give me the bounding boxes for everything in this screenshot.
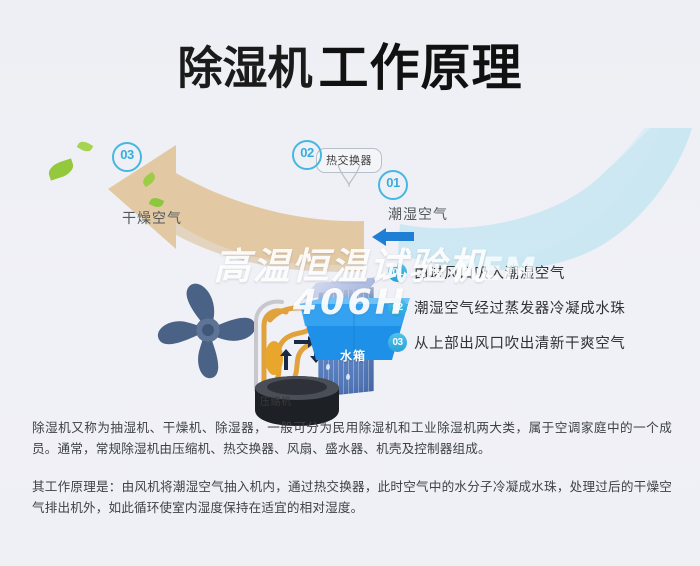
diagram-badge-01: 01 [378,170,408,200]
list-item: 01 由进风口吸入潮湿空气 [388,255,688,290]
list-item: 03 从上部出风口吹出清新干爽空气 [388,325,688,360]
moist-air-label: 潮湿空气 [388,204,448,224]
dry-air-label: 干燥空气 [122,208,182,228]
step-text-02: 潮湿空气经过蒸发器冷凝成水珠 [414,297,625,318]
compressor-label: 压缩机 [260,393,292,408]
body-copy: 除湿机又称为抽湿机、干燥机、除湿器，一般可分为民用除湿机和工业除湿机两大类，属于… [32,418,672,525]
paragraph-principle: 其工作原理是：由风机将潮湿空气抽入机内，通过热交换器，此时空气中的水分子冷凝成水… [32,477,672,519]
page-title: 除湿机工作原理 [0,28,700,100]
title-part-two: 工作原理 [319,39,523,97]
step-badge-02: 02 [388,298,407,317]
step-list: 01 由进风口吸入潮湿空气 02 潮湿空气经过蒸发器冷凝成水珠 03 从上部出风… [388,255,688,360]
water-tank-label: 水箱 [340,347,366,364]
step-badge-01: 01 [388,263,407,282]
step-text-03: 从上部出风口吹出清新干爽空气 [414,332,625,353]
infographic-page: 除湿机工作原理 [0,0,700,566]
list-item: 02 潮湿空气经过蒸发器冷凝成水珠 [388,290,688,325]
callout-pointer-icon [336,165,362,187]
title-part-one: 除湿机 [177,42,312,95]
step-badge-03: 03 [388,333,407,352]
air-inlet-arrow-icon [372,228,414,246]
diagram-badge-03: 03 [112,142,142,172]
step-text-01: 由进风口吸入潮湿空气 [414,262,565,283]
diagram-badge-02: 02 [292,140,322,170]
paragraph-definition: 除湿机又称为抽湿机、干燥机、除湿器，一般可分为民用除湿机和工业除湿机两大类，属于… [32,418,672,460]
